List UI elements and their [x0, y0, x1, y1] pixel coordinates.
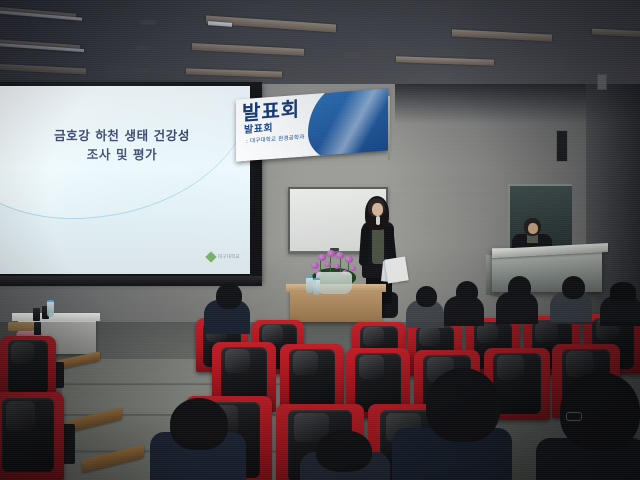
- microphone-icon: [376, 216, 380, 225]
- event-banner: 발표회 발표회 : 대구대학교 환경공학과: [236, 88, 388, 161]
- ceiling: [0, 0, 640, 92]
- lecture-hall-photo: 금호강 하천 생태 건강성 조사 및 평가 대구대학교 발표회 발표회 : 대구…: [0, 0, 640, 480]
- ceiling-shading: [0, 0, 640, 92]
- banner-subheadline: 발표회: [244, 119, 273, 136]
- presenter-shirt: [372, 228, 384, 264]
- audience-cap: [610, 282, 636, 300]
- slide-footer-logo: 대구대학교: [207, 253, 240, 261]
- orchid-bloom: [345, 256, 353, 263]
- water-bottle: [306, 276, 313, 293]
- beverage-can: [33, 308, 40, 321]
- orchid-bloom: [318, 254, 326, 261]
- audience-head: [508, 276, 531, 299]
- side-table-top: [12, 313, 100, 321]
- presenter-notes: [384, 257, 408, 284]
- orchid-bloom: [311, 262, 319, 269]
- flower-vase: [316, 272, 352, 294]
- banner-pole: [388, 96, 390, 160]
- presenter-face: [372, 203, 383, 216]
- slide-title-line-2: 조사 및 평가: [0, 145, 250, 164]
- diamond-logo-icon: [205, 251, 216, 262]
- audience-head: [562, 276, 585, 299]
- audience-head: [456, 281, 478, 303]
- orchid-bloom: [336, 252, 344, 259]
- projection-screen: 금호강 하천 생태 건강성 조사 및 평가 대구대학교: [0, 86, 250, 274]
- slide-logo-text: 대구대학교: [218, 254, 240, 260]
- projection-screen-frame: 금호강 하천 생태 건강성 조사 및 평가 대구대학교: [0, 82, 262, 282]
- water-bottle: [47, 300, 54, 317]
- water-bottle: [313, 278, 320, 295]
- audience-head: [216, 283, 242, 309]
- slide-title: 금호강 하천 생태 건강성 조사 및 평가: [0, 126, 250, 164]
- orchid-bloom: [350, 266, 356, 271]
- floor-shading: [0, 322, 640, 480]
- orchid-bloom: [325, 262, 331, 267]
- podium-speaker-face: [528, 223, 538, 234]
- banner-swoosh-icon: [308, 88, 388, 161]
- wall-speaker-panel: [556, 130, 568, 162]
- orchid-bloom: [334, 264, 340, 269]
- slide-title-line-1: 금호강 하천 생태 건강성: [0, 126, 250, 145]
- orchid-bloom: [327, 250, 335, 257]
- wall-mounted-box: [597, 74, 607, 90]
- audience-head: [416, 286, 437, 307]
